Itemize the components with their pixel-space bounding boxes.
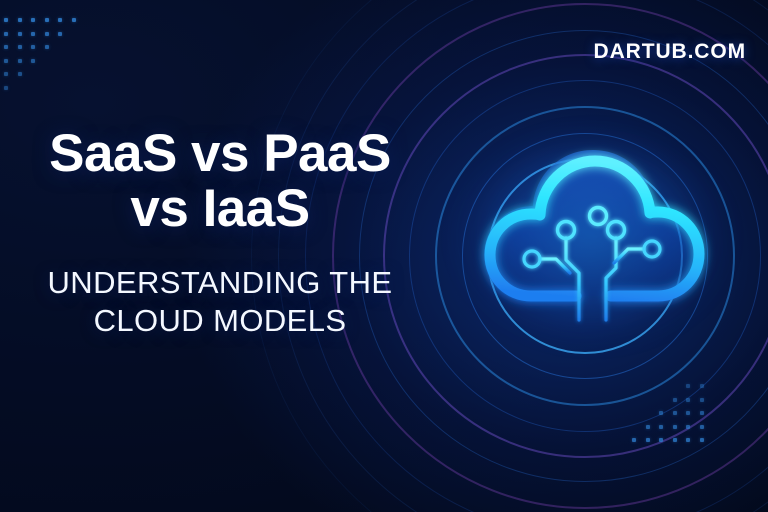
matrix-dot (659, 411, 663, 415)
matrix-dot (646, 438, 650, 442)
matrix-dot (632, 438, 636, 442)
cloud-circuit-icon (448, 120, 738, 370)
matrix-dot (31, 18, 35, 22)
matrix-dot (686, 398, 690, 402)
matrix-dot (686, 384, 690, 388)
matrix-dot (700, 384, 704, 388)
matrix-dot (659, 425, 663, 429)
matrix-dot (4, 32, 8, 36)
matrix-dot (646, 425, 650, 429)
dot-matrix-top-left (4, 18, 134, 128)
matrix-dot (673, 438, 677, 442)
subtitle-line-2: CLOUD MODELS (0, 302, 440, 340)
matrix-dot (4, 72, 8, 76)
matrix-dot (4, 86, 8, 90)
matrix-dot (4, 45, 8, 49)
matrix-dot (659, 438, 663, 442)
cloud-models-banner: DARTUB.COM (0, 0, 768, 512)
matrix-dot (700, 438, 704, 442)
matrix-dot (45, 32, 49, 36)
matrix-dot (45, 45, 49, 49)
matrix-dot (686, 411, 690, 415)
matrix-dot (700, 425, 704, 429)
dot-matrix-bottom-right (632, 384, 762, 494)
site-logo: DARTUB.COM (594, 40, 746, 64)
matrix-dot (4, 59, 8, 63)
matrix-dot (18, 72, 22, 76)
matrix-dot (58, 18, 62, 22)
matrix-dot (673, 398, 677, 402)
title-line-2: vs IaaS (0, 181, 440, 236)
matrix-dot (686, 438, 690, 442)
matrix-dot (700, 398, 704, 402)
title-line-1: SaaS vs PaaS (0, 126, 440, 181)
page-title: SaaS vs PaaS vs IaaS (0, 126, 440, 236)
matrix-dot (18, 18, 22, 22)
subtitle-line-1: UNDERSTANDING THE (0, 264, 440, 302)
matrix-dot (72, 18, 76, 22)
matrix-dot (673, 411, 677, 415)
matrix-dot (45, 18, 49, 22)
matrix-dot (31, 32, 35, 36)
page-subtitle: UNDERSTANDING THE CLOUD MODELS (0, 264, 440, 340)
matrix-dot (700, 411, 704, 415)
matrix-dot (673, 425, 677, 429)
matrix-dot (58, 32, 62, 36)
matrix-dot (31, 59, 35, 63)
headline-block: SaaS vs PaaS vs IaaS UNDERSTANDING THE C… (0, 126, 440, 340)
matrix-dot (4, 18, 8, 22)
matrix-dot (18, 45, 22, 49)
matrix-dot (18, 59, 22, 63)
matrix-dot (686, 425, 690, 429)
matrix-dot (31, 45, 35, 49)
matrix-dot (18, 32, 22, 36)
